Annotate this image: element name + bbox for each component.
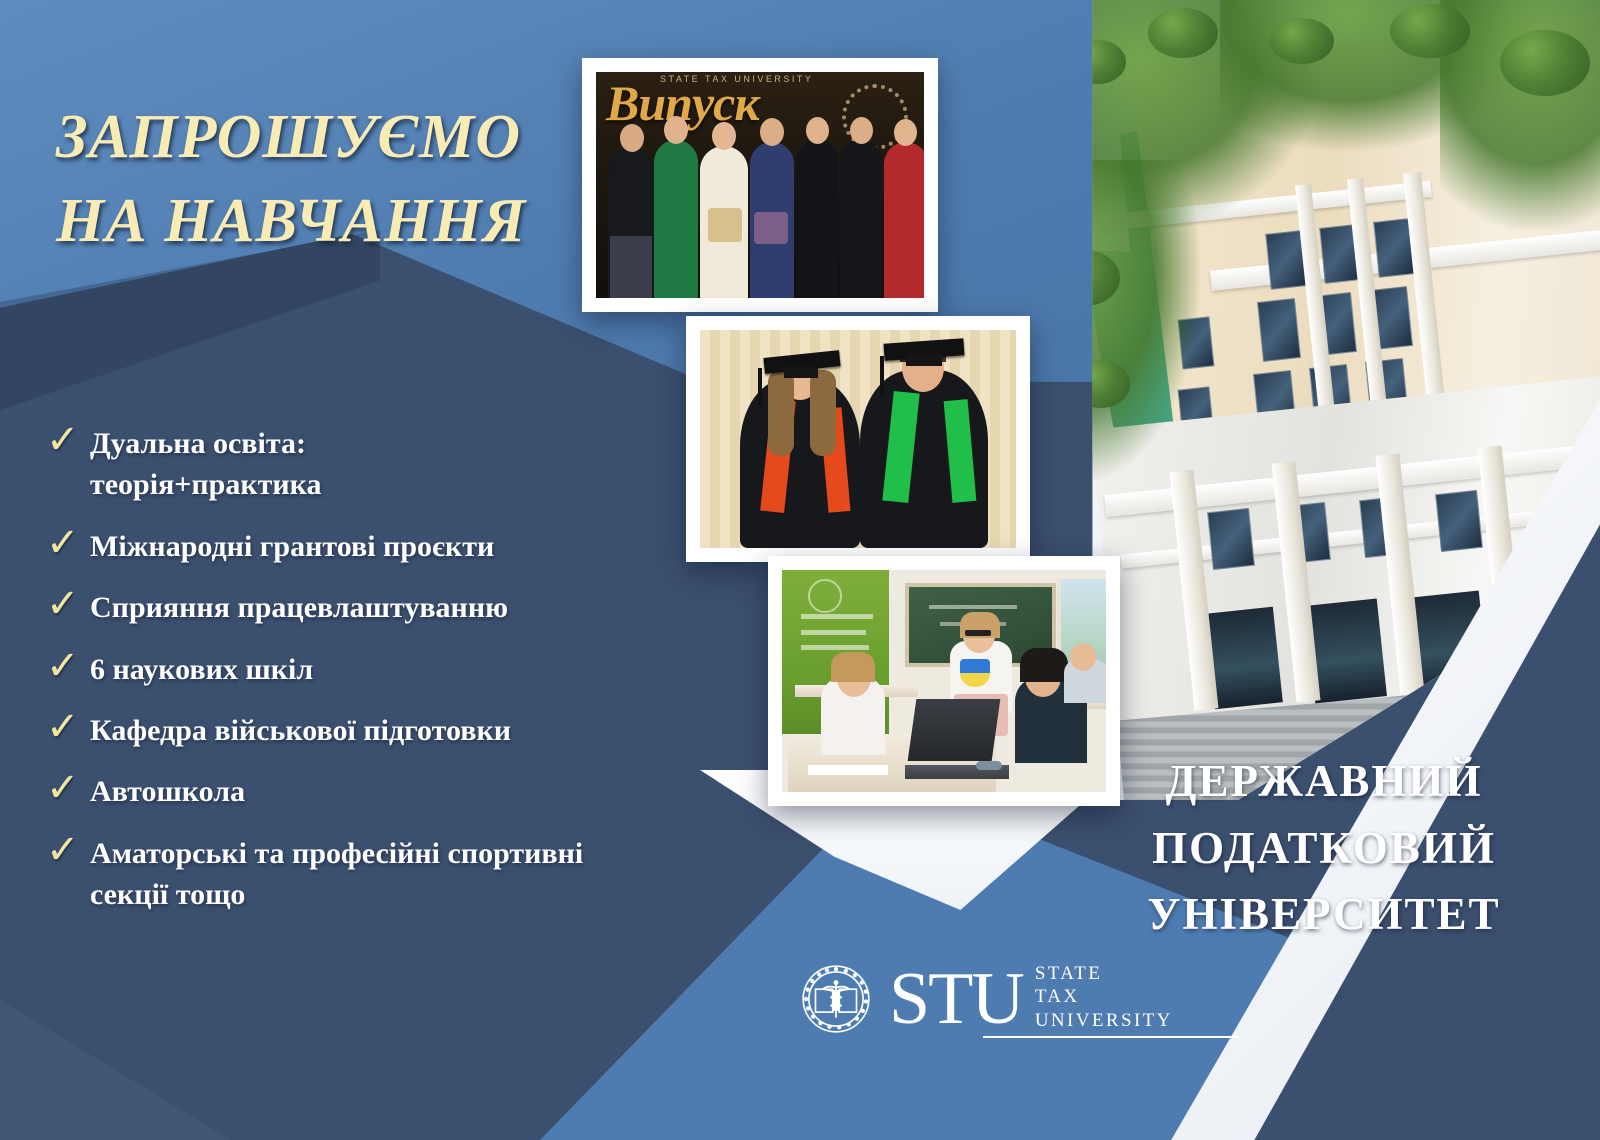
photo-graduation-group-image: STATE TAX UNIVERSITY Випуск (596, 72, 924, 298)
feature-item: ✓ Аматорські та професійні спортивні сек… (46, 833, 836, 916)
person (840, 140, 882, 298)
tshirt-ukraine-heart-icon (960, 659, 990, 687)
computer-mouse (976, 761, 1002, 770)
cap-tassel (758, 368, 762, 406)
person (654, 140, 698, 298)
person (884, 142, 924, 298)
building-window (1435, 490, 1483, 552)
feature-list: ✓ Дуальна освіта: теорія+практика ✓ Міжн… (46, 423, 836, 936)
checkmark-icon: ✓ (46, 706, 90, 748)
person-head (664, 116, 688, 144)
poster-canvas: STATE TAX UNIVERSITY Випуск (0, 0, 1600, 1140)
chalk-writing (929, 605, 1017, 609)
flower-bouquet (754, 212, 788, 244)
page-title: ЗАПРОШУЄМО НА НАВЧАННЯ (56, 96, 616, 263)
person-head (806, 117, 829, 144)
feature-item: ✓ Дуальна освіта: теорія+практика (46, 423, 836, 506)
feature-label: Дуальна освіта: теорія+практика (90, 423, 836, 506)
graduation-cap-crown (784, 366, 818, 378)
tree-leaf-cluster (1390, 4, 1470, 58)
stu-monogram: STU (889, 965, 1023, 1033)
tree-leaf-cluster (1270, 18, 1334, 64)
checkmark-icon: ✓ (46, 767, 90, 809)
checkmark-icon: ✓ (46, 522, 90, 564)
flower-bouquet (708, 208, 742, 242)
tree-leaf-cluster (1148, 8, 1218, 58)
logo-underline (983, 1036, 1239, 1038)
feature-item: ✓ Міжнародні грантові проєкти (46, 526, 836, 567)
tree-leaf-cluster (1500, 30, 1590, 96)
person-head (620, 124, 644, 152)
photo-graduation-group: STATE TAX UNIVERSITY Випуск (582, 58, 938, 312)
feature-label: 6 наукових шкіл (90, 649, 836, 690)
building-window (1257, 298, 1301, 362)
cap-tassel (880, 356, 884, 396)
stu-logo: STU STATE TAX UNIVERSITY (795, 958, 1173, 1040)
person-head (712, 122, 736, 150)
person-lower (610, 236, 652, 298)
feature-item: ✓ Кафедра військової підготовки (46, 710, 836, 751)
checkmark-icon: ✓ (46, 645, 90, 687)
person-head (760, 118, 784, 146)
university-name: ДЕРЖАВНИЙ ПОДАТКОВИЙ УНІВЕРСИТЕТ (1104, 748, 1544, 948)
person-head (850, 117, 873, 144)
graduation-cap-crown (906, 354, 942, 366)
feature-label: Аматорські та професійні спортивні секці… (90, 833, 836, 916)
student-hair (831, 652, 875, 682)
feature-label: Кафедра військової підготовки (90, 710, 836, 751)
feature-item: ✓ Сприяння працевлаштуванню (46, 587, 836, 628)
stu-emblem-icon (795, 958, 877, 1040)
stu-full-name: STATE TAX UNIVERSITY (1035, 962, 1173, 1036)
person (796, 140, 838, 298)
checkmark-icon: ✓ (46, 419, 90, 461)
feature-label: Міжнародні грантові проєкти (90, 526, 836, 567)
feature-item: ✓ 6 наукових шкіл (46, 649, 836, 690)
feature-label: Автошкола (90, 771, 836, 812)
feature-label: Сприяння працевлаштуванню (90, 587, 836, 628)
laptop-screen (907, 699, 1000, 761)
student-hair (1020, 648, 1068, 682)
building-window (1207, 508, 1255, 570)
checkmark-icon: ✓ (46, 583, 90, 625)
person-head (894, 119, 917, 146)
eyeglasses-icon (965, 630, 991, 636)
feature-item: ✓ Автошкола (46, 771, 836, 812)
checkmark-icon: ✓ (46, 829, 90, 871)
